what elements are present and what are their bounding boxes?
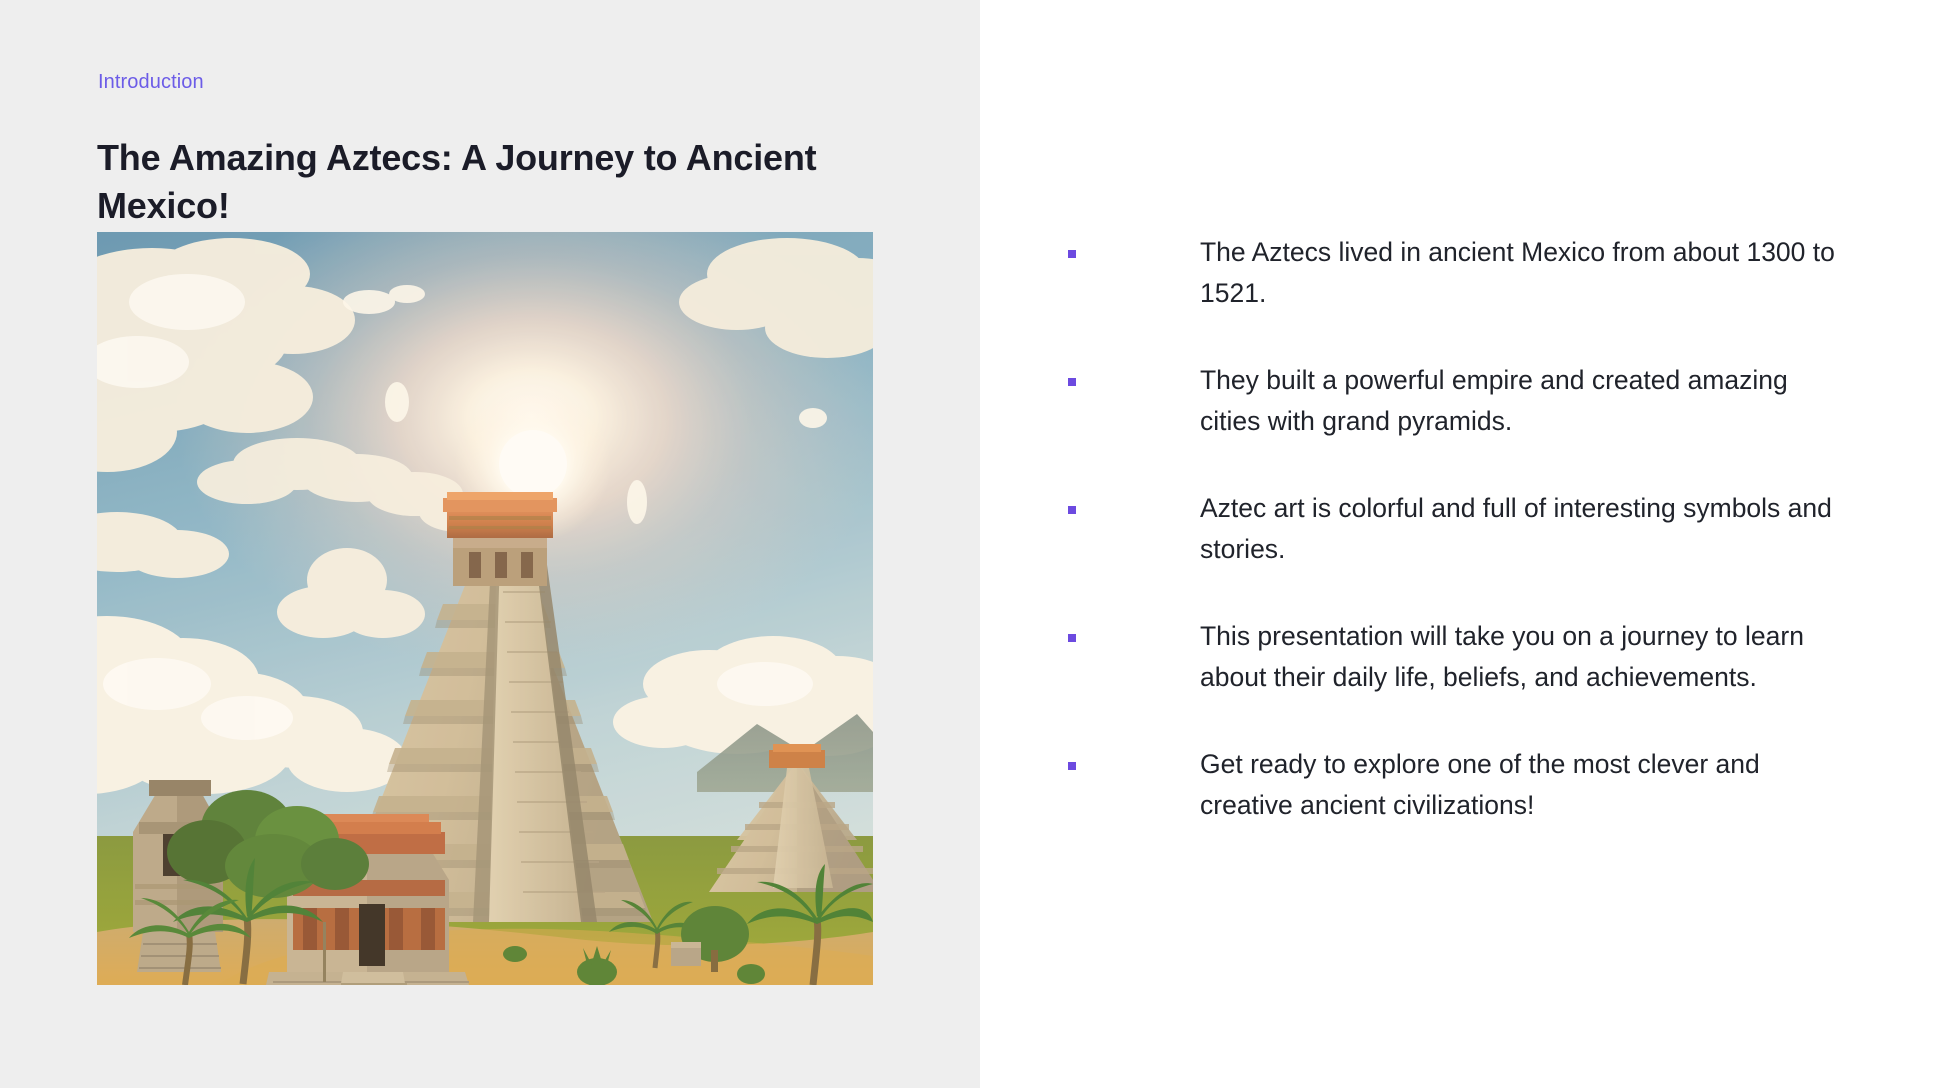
list-item-text: The Aztecs lived in ancient Mexico from … xyxy=(1200,232,1845,313)
square-bullet-icon xyxy=(1068,762,1076,770)
left-panel: Introduction The Amazing Aztecs: A Journ… xyxy=(0,0,980,1088)
bullet-list: The Aztecs lived in ancient Mexico from … xyxy=(1055,232,1845,825)
page-title: The Amazing Aztecs: A Journey to Ancient… xyxy=(97,134,857,229)
list-item-text: Aztec art is colorful and full of intere… xyxy=(1200,488,1845,569)
right-panel: The Aztecs lived in ancient Mexico from … xyxy=(980,0,1946,1088)
square-bullet-icon xyxy=(1068,506,1076,514)
list-item: They built a powerful empire and created… xyxy=(1055,360,1845,441)
slide-eyebrow-label: Introduction xyxy=(98,70,204,94)
list-item-text: Get ready to explore one of the most cle… xyxy=(1200,744,1845,825)
list-item: Aztec art is colorful and full of intere… xyxy=(1055,488,1845,569)
presentation-slide: Introduction The Amazing Aztecs: A Journ… xyxy=(0,0,1946,1088)
list-item-text: They built a powerful empire and created… xyxy=(1200,360,1845,441)
square-bullet-icon xyxy=(1068,634,1076,642)
square-bullet-icon xyxy=(1068,378,1076,386)
list-item: Get ready to explore one of the most cle… xyxy=(1055,744,1845,825)
aztec-pyramid-illustration xyxy=(97,232,873,985)
aztec-pyramid-photo xyxy=(97,232,873,985)
list-item: The Aztecs lived in ancient Mexico from … xyxy=(1055,232,1845,313)
square-bullet-icon xyxy=(1068,250,1076,258)
list-item: This presentation will take you on a jou… xyxy=(1055,616,1845,697)
list-item-text: This presentation will take you on a jou… xyxy=(1200,616,1845,697)
